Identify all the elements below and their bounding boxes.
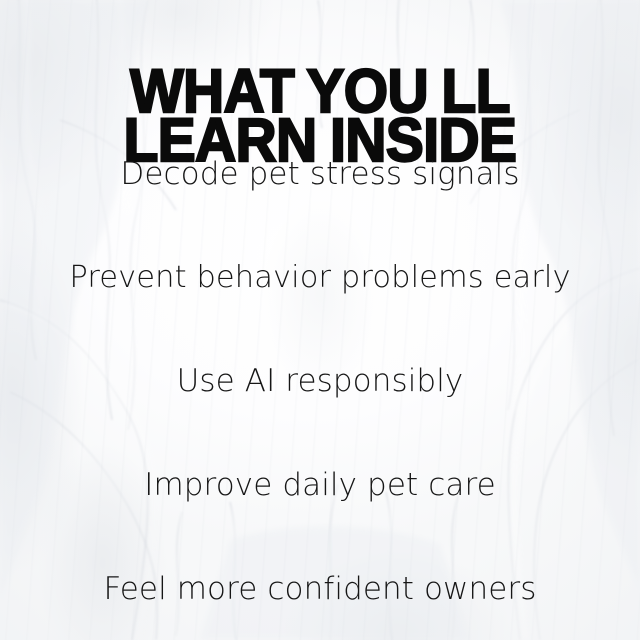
poster-content: WHAT YOU LL LEARN INSIDE Decode pet stre… [0, 0, 640, 640]
benefit-item-2: Prevent behavior problems early [0, 262, 640, 294]
benefit-item-1: Decode pet stress signals [0, 158, 640, 191]
benefit-list: Decode pet stress signals Prevent behavi… [0, 158, 640, 606]
benefit-item-4: Improve daily pet care [0, 469, 640, 502]
headline: WHAT YOU LL LEARN INSIDE [0, 67, 640, 165]
poster-canvas: WHAT YOU LL LEARN INSIDE Decode pet stre… [0, 0, 640, 640]
benefit-item-3: Use AI responsibly [0, 365, 640, 398]
benefit-item-5: Feel more confident owners [0, 573, 640, 606]
